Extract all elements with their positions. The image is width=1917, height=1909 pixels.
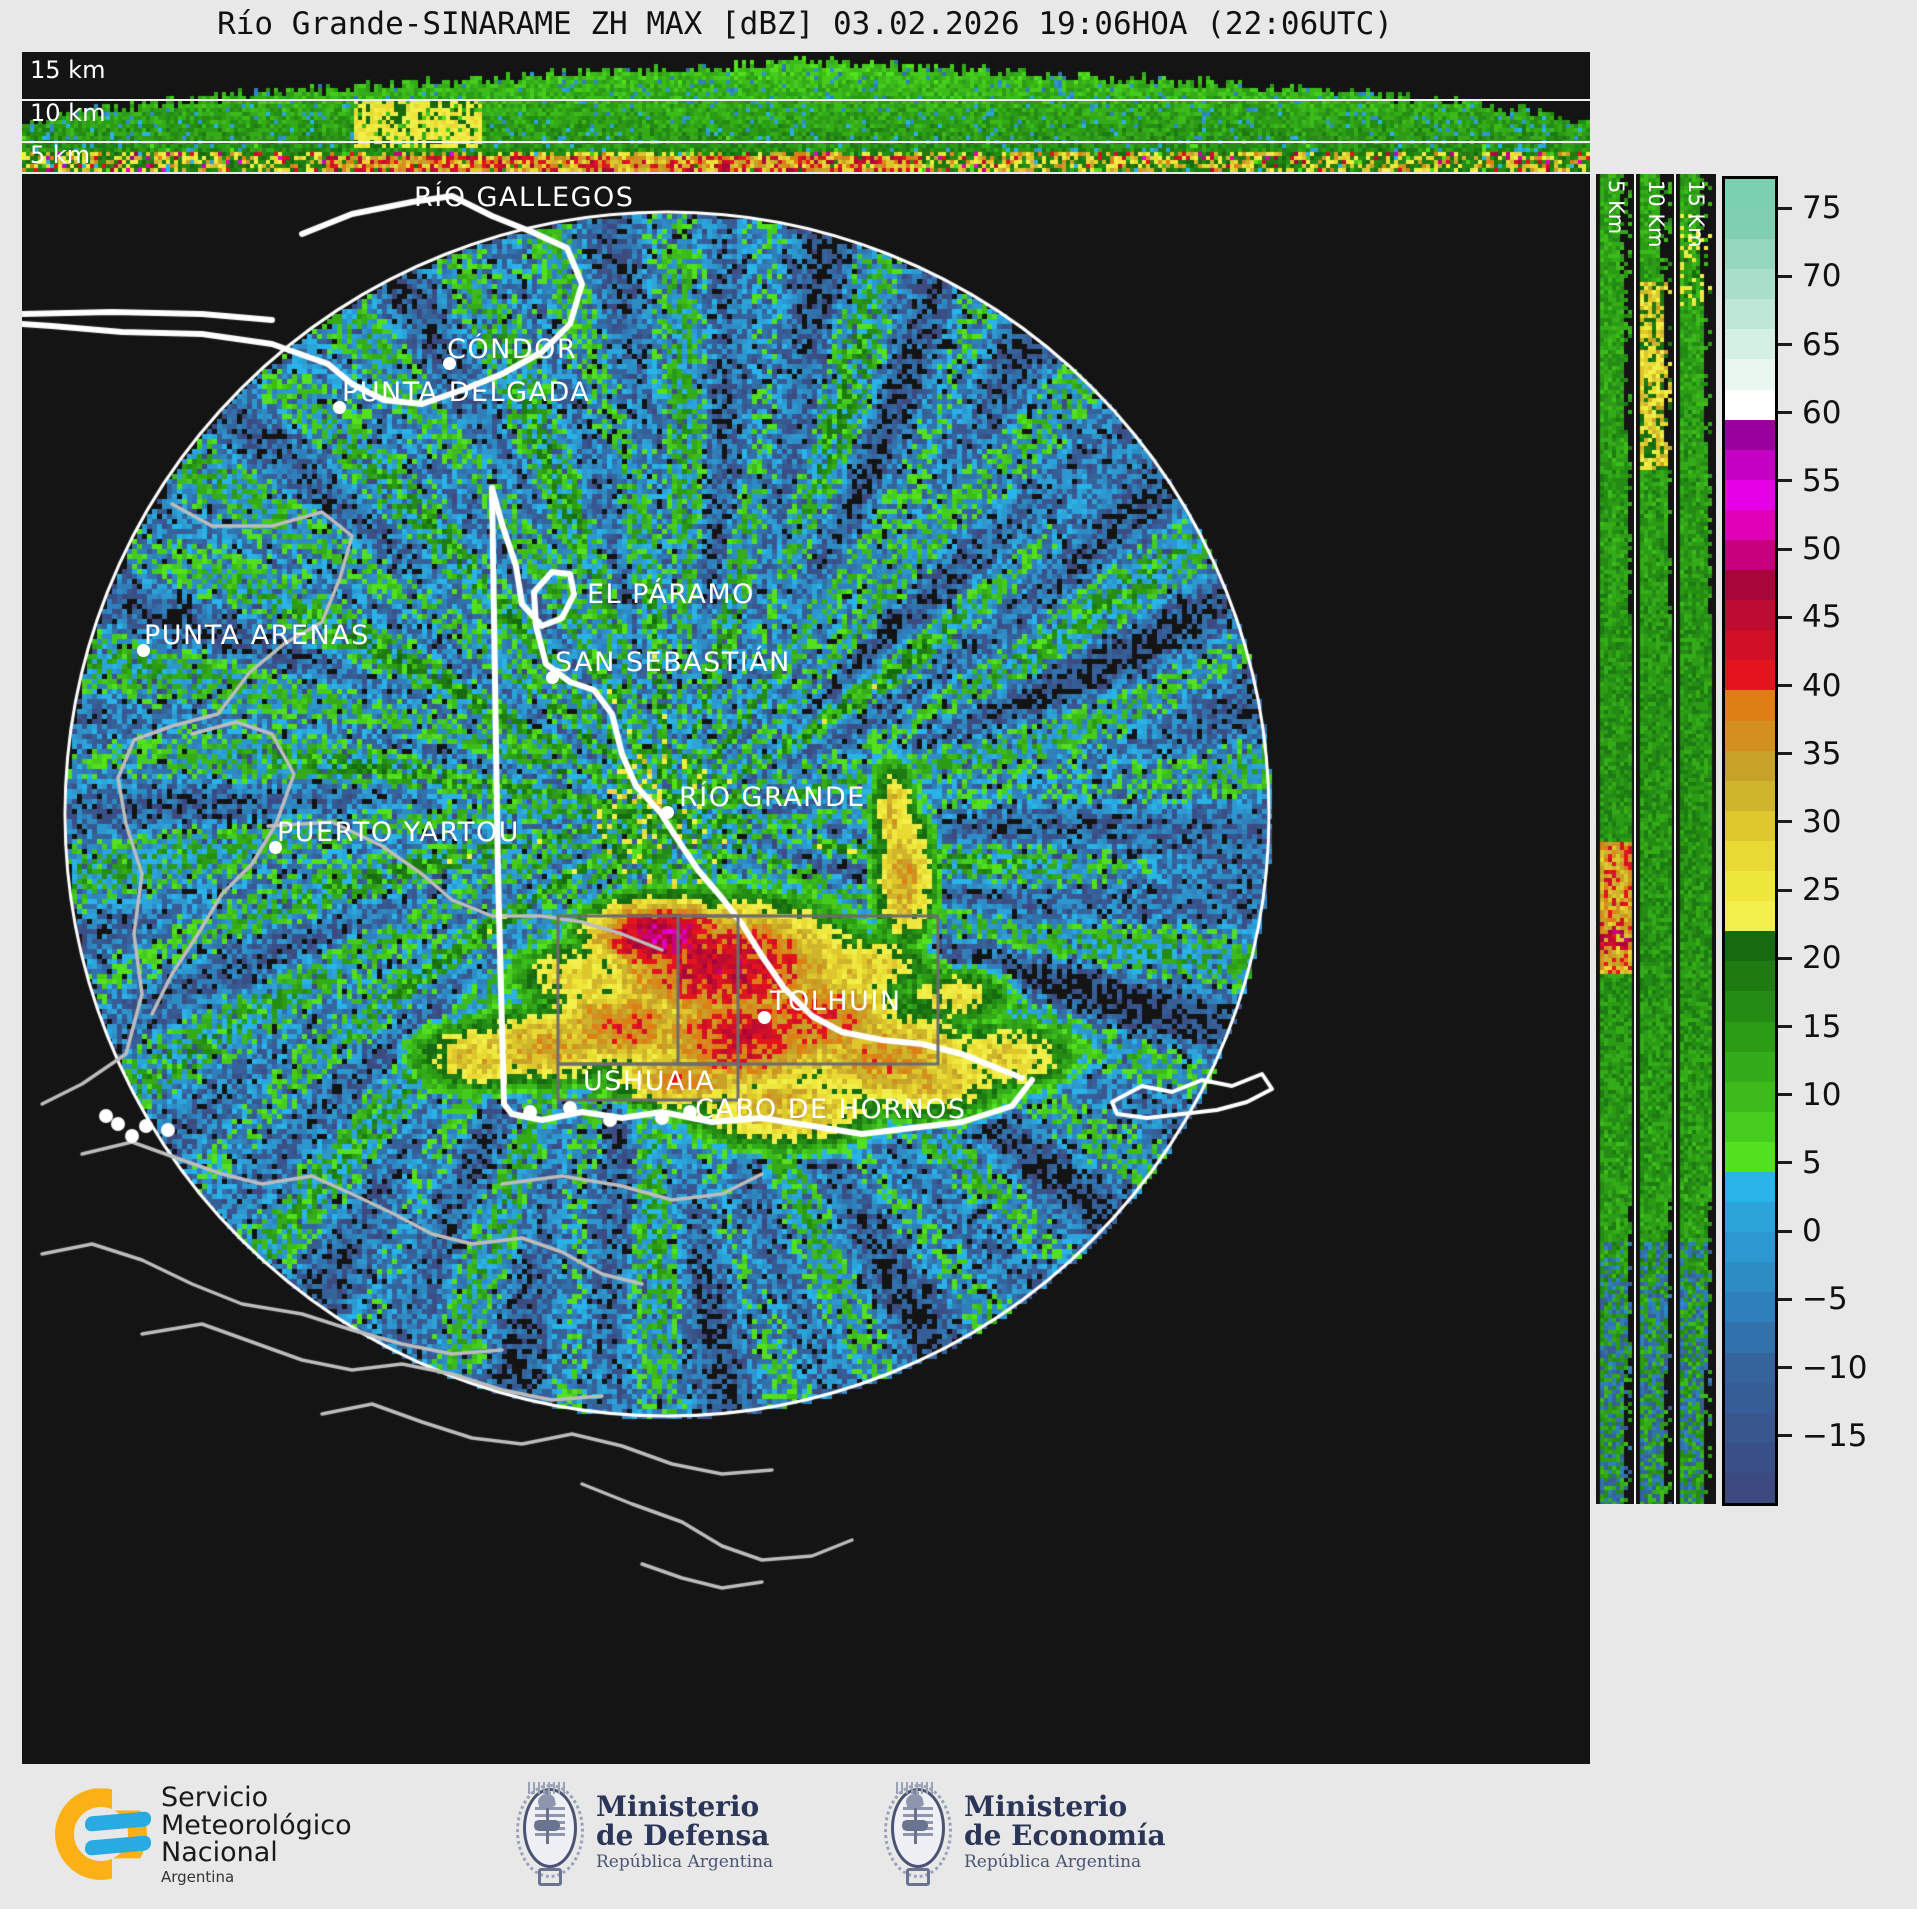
tick-mark-icon [1778,207,1792,210]
colorbar-swatch-31 [1725,540,1775,570]
colorbar-tick-45: 45 [1778,599,1841,635]
colorbar-tick-20: 20 [1778,940,1841,976]
colorbar-swatch-22 [1725,811,1775,841]
colorbar-swatch-39 [1725,299,1775,329]
side-cross-section-label-15km: 15 Km [1684,180,1708,248]
top-cross-section-panel: 15 km 10 km 5 km [22,52,1590,172]
colorbar-tick-50: 50 [1778,531,1841,567]
tick-label: 50 [1802,531,1841,567]
sun-of-may-icon [532,1780,562,1794]
tick-label: 45 [1802,599,1841,635]
smn-line-3: Nacional [161,1839,352,1867]
city-marker-dot [758,1011,771,1024]
tick-label: −5 [1802,1281,1848,1317]
city-marker-dot [333,401,346,414]
tick-label: 40 [1802,668,1841,704]
tick-mark-icon [1778,548,1792,551]
ribbon-knot-icon [538,1868,562,1886]
smn-line-2: Meteorológico [161,1812,352,1840]
colorbar-swatch-40 [1725,269,1775,299]
colorbar-swatch-24 [1725,751,1775,781]
colorbar-tick-65: 65 [1778,327,1841,363]
smn-line-1: Servicio [161,1784,352,1812]
colorbar-swatch-36 [1725,390,1775,420]
colorbar-swatch-23 [1725,781,1775,811]
colorbar-swatch-4 [1725,1353,1775,1383]
colorbar-tick-40: 40 [1778,668,1841,704]
tick-label: 70 [1802,258,1841,294]
colorbar-swatch-12 [1725,1112,1775,1142]
side-cross-section-label-5km: 5 Km [1604,180,1628,234]
side-cross-section-panel: 5 Km 10 Km 15 Km [1596,174,1716,1504]
smn-logo: Servicio Meteorológico Nacional Argentin… [55,1784,352,1885]
tick-label: 0 [1802,1213,1822,1249]
colorbar-tick-30: 30 [1778,804,1841,840]
tick-label: 5 [1802,1145,1822,1181]
ministry-economia-line-2: de Economía [964,1821,1166,1850]
city-marker-dot [443,357,456,370]
colorbar-tick-70: 70 [1778,258,1841,294]
sun-of-may-icon [900,1780,930,1794]
tick-mark-icon [1778,1434,1792,1437]
tick-mark-icon [1778,616,1792,619]
tick-mark-icon [1778,479,1792,482]
clasped-hands-icon [534,1820,560,1831]
tick-label: −15 [1802,1418,1867,1454]
top-cross-section-canvas [22,52,1590,172]
colorbar-swatch-1 [1725,1443,1775,1473]
colorbar-swatch-26 [1725,690,1775,720]
tick-mark-icon [1778,343,1792,346]
colorbar [1722,176,1778,1506]
tick-mark-icon [1778,1298,1792,1301]
colorbar-swatch-13 [1725,1082,1775,1112]
tick-mark-icon [1778,1230,1792,1233]
tick-mark-icon [1778,684,1792,687]
tick-mark-icon [1778,1093,1792,1096]
tick-label: −10 [1802,1350,1867,1386]
colorbar-swatch-28 [1725,630,1775,660]
colorbar-tick-75: 75 [1778,190,1841,226]
colorbar-swatch-19 [1725,901,1775,931]
tick-label: 20 [1802,940,1841,976]
smn-logo-mark-icon [55,1788,147,1880]
colorbar-swatch-6 [1725,1292,1775,1322]
colorbar-swatch-8 [1725,1232,1775,1262]
colorbar-swatch-5 [1725,1322,1775,1352]
colorbar-swatch-2 [1725,1413,1775,1443]
tick-mark-icon [1778,820,1792,823]
ministry-economia-line-1: Ministerio [964,1792,1166,1821]
ministry-defensa-logo: Ministerio de Defensa República Argentin… [512,1780,773,1884]
colorbar-swatch-34 [1725,450,1775,480]
colorbar-tick--10: −10 [1778,1350,1867,1386]
argentina-coat-of-arms-icon [880,1780,950,1884]
ministry-economia-line-3: República Argentina [964,1854,1166,1872]
tick-mark-icon [1778,275,1792,278]
tick-label: 30 [1802,804,1841,840]
clasped-hands-icon [902,1820,928,1831]
colorbar-swatch-14 [1725,1052,1775,1082]
colorbar-swatch-21 [1725,841,1775,871]
colorbar-tick-55: 55 [1778,463,1841,499]
colorbar-tick-60: 60 [1778,395,1841,431]
tick-mark-icon [1778,1025,1792,1028]
colorbar-tick--5: −5 [1778,1281,1848,1317]
colorbar-tick-35: 35 [1778,736,1841,772]
colorbar-swatch-18 [1725,931,1775,961]
colorbar-swatch-38 [1725,329,1775,359]
tick-label: 65 [1802,327,1841,363]
colorbar-swatch-29 [1725,600,1775,630]
ministry-defensa-line-3: República Argentina [596,1854,773,1872]
side-cross-section-label-10km: 10 Km [1644,180,1668,248]
colorbar-swatch-11 [1725,1142,1775,1172]
tick-mark-icon [1778,889,1792,892]
radar-ppi-panel[interactable]: RÍO GALLEGOSCÓNDORPUNTA DELGADAEL PÁRAMO… [22,174,1590,1764]
smn-logo-text: Servicio Meteorológico Nacional Argentin… [161,1784,352,1885]
colorbar-swatch-41 [1725,239,1775,269]
city-marker-dot [661,806,674,819]
tick-label: 55 [1802,463,1841,499]
tick-label: 75 [1802,190,1841,226]
colorbar-tick--15: −15 [1778,1418,1867,1454]
side-cross-section-divider-1 [1634,174,1636,1504]
cross-section-label-15km: 15 km [30,56,105,84]
colorbar-swatch-30 [1725,570,1775,600]
tick-mark-icon [1778,411,1792,414]
colorbar-swatch-0 [1725,1473,1775,1503]
colorbar-swatch-7 [1725,1262,1775,1292]
colorbar-tick-10: 10 [1778,1077,1841,1113]
cross-section-gridline-10km [22,99,1590,101]
city-marker-dot [546,671,559,684]
smn-ring-icon [55,1788,147,1880]
colorbar-tick-5: 5 [1778,1145,1822,1181]
page-title: Río Grande-SINARAME ZH MAX [dBZ] 03.02.2… [0,6,1610,42]
ministry-defensa-line-1: Ministerio [596,1792,773,1821]
side-cross-section-canvas [1596,174,1716,1504]
tick-label: 15 [1802,1009,1841,1045]
colorbar-swatch-20 [1725,871,1775,901]
colorbar-swatch-17 [1725,961,1775,991]
colorbar-swatch-25 [1725,721,1775,751]
colorbar-tick-layer: 757065605550454035302520151050−5−10−15 [1778,176,1908,1506]
colorbar-swatch-42 [1725,209,1775,239]
tick-label: 35 [1802,736,1841,772]
cross-section-gridline-5km [22,141,1590,143]
colorbar-swatch-10 [1725,1172,1775,1202]
colorbar-tick-15: 15 [1778,1009,1841,1045]
colorbar-swatch-16 [1725,991,1775,1021]
tick-label: 60 [1802,395,1841,431]
tick-label: 25 [1802,872,1841,908]
argentina-coat-of-arms-icon [512,1780,582,1884]
colorbar-swatch-43 [1725,179,1775,209]
ministry-economia-text: Ministerio de Economía República Argenti… [964,1792,1166,1872]
colorbar-swatch-27 [1725,660,1775,690]
colorbar-gradient [1722,176,1778,1506]
ministry-economia-logo: Ministerio de Economía República Argenti… [880,1780,1166,1884]
tick-mark-icon [1778,1161,1792,1164]
radar-reflectivity-canvas [22,174,1590,1764]
ribbon-knot-icon [906,1868,930,1886]
city-marker-dot [137,644,150,657]
colorbar-swatch-35 [1725,420,1775,450]
colorbar-swatch-3 [1725,1383,1775,1413]
colorbar-tick-0: 0 [1778,1213,1822,1249]
city-marker-dot [269,841,282,854]
smn-line-4: Argentina [161,1870,352,1885]
cross-section-label-10km: 10 km [30,99,105,127]
colorbar-swatch-32 [1725,510,1775,540]
colorbar-swatch-37 [1725,359,1775,389]
tick-mark-icon [1778,1366,1792,1369]
side-cross-section-divider-2 [1674,174,1676,1504]
ministry-defensa-text: Ministerio de Defensa República Argentin… [596,1792,773,1872]
footer-logos: Servicio Meteorológico Nacional Argentin… [0,1772,1917,1909]
tick-mark-icon [1778,957,1792,960]
colorbar-swatch-9 [1725,1202,1775,1232]
ministry-defensa-line-2: de Defensa [596,1821,773,1850]
tick-label: 10 [1802,1077,1841,1113]
colorbar-swatch-33 [1725,480,1775,510]
tick-mark-icon [1778,752,1792,755]
cross-section-label-5km: 5 km [30,141,90,169]
colorbar-swatch-15 [1725,1022,1775,1052]
colorbar-tick-25: 25 [1778,872,1841,908]
